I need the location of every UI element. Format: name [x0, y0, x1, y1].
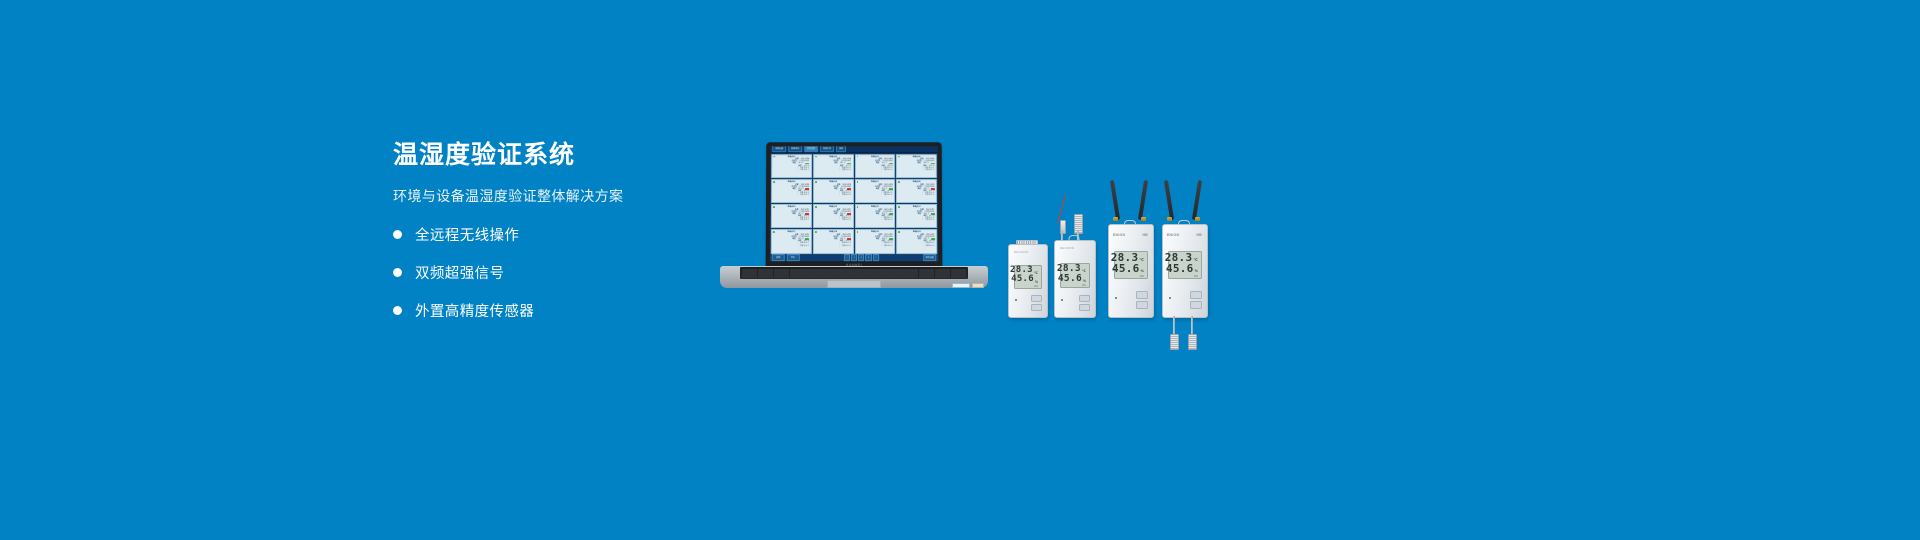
antenna-left-base [1113, 217, 1118, 221]
device-group: RECORD 28.3 ℃ 45.6 % RH [1000, 186, 1220, 316]
card-field-value: 下限 10.0 ℃ [842, 194, 851, 196]
lcd-humidity-value: 45.6 [1058, 274, 1082, 284]
lcd-display: 28.3 ℃ 45.6 % RH [1014, 265, 1042, 289]
device-button-up[interactable] [1190, 291, 1202, 299]
device-logger-wireless-2: EN/ON HB 28.3 ℃ 45.6 % RH [1162, 224, 1206, 316]
monitor-card[interactable]: 监测点08名称：测试 仓库B序列号：YJ-20210608温度：28.6 ℃湿度… [896, 179, 937, 203]
device-button-down[interactable] [1136, 301, 1148, 309]
lcd-footer-label: RH [1064, 284, 1086, 287]
status-led-icon [1015, 299, 1017, 301]
card-status-dot-icon [898, 206, 900, 208]
card-field-key: ： [923, 219, 925, 221]
card-field-key: ： [922, 169, 924, 171]
tab-system[interactable]: 系统 [836, 146, 846, 152]
more-settings-button[interactable]: 更多设置 [923, 255, 936, 262]
lcd-footer-label: RH [1172, 274, 1198, 278]
feature-item-3: 外置高精度传感器 [393, 300, 723, 321]
card-field-value: 下限 10.0 ℃ [883, 219, 893, 221]
card-field-key: 温度： [834, 163, 839, 165]
app-bottom-toolbar: 刷新 导出 ‹ 1 2 3 › 更多设置 [770, 255, 939, 262]
refresh-button[interactable]: 刷新 [772, 255, 785, 262]
keyboard-key[interactable] [774, 276, 789, 277]
monitor-card[interactable]: 监测点04名称：测试 仓库A序列号：YJ-20210604温度：28.8 ℃湿度… [896, 154, 937, 178]
card-field-row: ：下限 10.0 ℃ [899, 169, 935, 171]
device-body: EN/ON HB 28.3 ℃ 45.6 % RH [1108, 224, 1154, 318]
feature-item-1: 全远程无线操作 [393, 224, 723, 245]
lcd-humidity-unit: % [1035, 281, 1038, 284]
device-button-up[interactable] [1079, 295, 1090, 302]
page-2-button[interactable]: 2 [858, 255, 864, 262]
lcd-humidity-line: 45.6 % [1172, 263, 1198, 274]
card-status-dot-icon [773, 206, 775, 208]
card-field-value: 下限 10.0 ℃ [925, 219, 935, 221]
card-field-row: ：下限 10.0 ℃ [815, 245, 851, 247]
lcd-humidity-line: 45.6 % [1018, 275, 1038, 284]
device-brand: RECORD [1014, 250, 1028, 254]
probe-sensor-head [1074, 214, 1083, 234]
feature-label: 双频超强信号 [415, 262, 504, 283]
card-field-key: 温度： [792, 238, 797, 240]
card-field-key: ： [797, 245, 799, 247]
card-field-row: ：下限 10.0 ℃ [857, 169, 893, 171]
probe-sensor-head [1170, 334, 1179, 350]
keyboard-key[interactable] [951, 276, 966, 277]
antenna-left-icon [1164, 180, 1174, 220]
device-button-down[interactable] [1079, 304, 1090, 311]
lcd-display: 28.3 ℃ 45.6 % RH [1114, 251, 1148, 279]
card-field-key: ： [881, 219, 883, 221]
lcd-humidity-unit: % [1195, 270, 1198, 274]
card-field-key: 温度： [876, 188, 881, 190]
monitor-card[interactable]: 监测点09名称：测试 仓库C序列号：YJ-20210609温度：28.7 ℃湿度… [771, 204, 812, 228]
keyboard-row [742, 276, 966, 277]
card-field-key: 温度： [792, 163, 797, 165]
keyboard-key[interactable] [742, 276, 757, 277]
app-top-toolbar: 参数设置 数据查询 实时监控 报警记录 系统 [770, 146, 938, 153]
card-field-key: 温度： [918, 213, 923, 215]
card-field-row: ：下限 10.0 ℃ [815, 219, 851, 221]
monitor-card[interactable]: 监测点12名称：测试 仓库C序列号：YJ-20210612温度：28.5 ℃湿度… [896, 204, 937, 228]
bullet-dot-icon [393, 230, 402, 239]
laptop-product-image: 参数设置 数据查询 实时监控 报警记录 系统 监测点01名称：测试 仓库A序列号… [720, 142, 988, 300]
device-button-group[interactable] [1136, 291, 1148, 309]
card-field-key: ： [923, 245, 925, 247]
keyboard-key[interactable] [919, 276, 934, 277]
card-status-dot-icon [773, 181, 775, 183]
card-field-key: 温度： [834, 188, 839, 190]
card-field-row: ：下限 10.0 ℃ [815, 169, 851, 171]
card-field-value: 下限 10.0 ℃ [925, 169, 934, 171]
device-logger-compact: RECORD 28.3 ℃ 45.6 % RH [1008, 244, 1046, 316]
monitor-card[interactable]: 监测点06名称：测试 仓库B序列号：YJ-20210606温度：28.2 ℃湿度… [813, 179, 854, 203]
status-led-icon [1169, 297, 1171, 299]
lcd-humidity-value: 45.6 [1166, 263, 1194, 274]
export-button[interactable]: 导出 [786, 255, 799, 262]
device-body: RECORD 28.3 ℃ 45.6 % RH [1054, 240, 1096, 318]
antenna-right-base [1141, 217, 1146, 221]
device-logger-probe: RECORD 28.3 ℃ 45.6 % RH [1054, 240, 1094, 316]
card-field-row: ：下限 10.0 ℃ [899, 194, 935, 196]
card-field-key: ： [797, 194, 799, 196]
page-prev-button[interactable]: ‹ [844, 255, 850, 262]
card-field-key: ： [839, 169, 841, 171]
laptop-screen: 参数设置 数据查询 实时监控 报警记录 系统 监测点01名称：测试 仓库A序列号… [770, 146, 939, 261]
card-field-value: 下限 10.0 ℃ [883, 245, 893, 247]
card-status-dot-icon [898, 181, 900, 183]
device-button-up[interactable] [1031, 295, 1042, 302]
keyboard-keys[interactable] [742, 269, 966, 278]
lcd-display: 28.3 ℃ 45.6 % RH [1168, 251, 1202, 279]
card-field-value: 下限 10.0 ℃ [800, 169, 809, 171]
keyboard-key[interactable] [902, 276, 917, 277]
device-button-down[interactable] [1031, 304, 1042, 311]
card-field-key: ： [881, 194, 883, 196]
antenna-right-icon [1138, 180, 1148, 220]
card-field-value: 下限 10.0 ℃ [841, 245, 851, 247]
hero-banner: 温湿度验证系统 环境与设备温湿度验证整体解决方案 全远程无线操作 双频超强信号 … [0, 0, 1920, 540]
device-button-group[interactable] [1031, 295, 1042, 311]
card-field-key: ： [839, 245, 841, 247]
card-field-row: ：下限 10.0 ℃ [857, 245, 893, 247]
card-field-key: ： [922, 194, 924, 196]
pagination: ‹ 1 2 3 › [844, 255, 879, 262]
card-field-row: ：下限 10.0 ℃ [899, 245, 935, 247]
monitor-grid-container: 监测点01名称：测试 仓库A序列号：YJ-20210601温度：28.3 ℃湿度… [770, 153, 938, 255]
card-status-dot-icon [815, 181, 817, 183]
feature-label: 全远程无线操作 [415, 224, 519, 245]
page-1-button[interactable]: 1 [851, 255, 857, 262]
card-field-key: ： [797, 169, 799, 171]
status-led-icon [1115, 297, 1117, 299]
antenna-left-base [1167, 217, 1172, 221]
monitor-card[interactable]: 监测点15名称：测试 仓库D序列号：YJ-20210615温度：28.6 ℃湿度… [855, 229, 896, 253]
card-field-row: ：下限 10.0 ℃ [857, 194, 893, 196]
tab-data-query[interactable]: 数据查询 [788, 146, 802, 152]
keyboard-key[interactable] [758, 276, 773, 277]
antenna-right-base [1195, 217, 1200, 221]
lcd-humidity-line: 45.6 % [1064, 274, 1086, 284]
lcd-humidity-value: 45.6 [1011, 275, 1034, 284]
device-label-right: HB [1197, 233, 1203, 237]
bullet-dot-icon [393, 268, 402, 277]
secondary-sticker [972, 283, 984, 289]
card-field-key: ： [881, 169, 883, 171]
card-field-key: 温度： [917, 163, 922, 165]
monitor-card[interactable]: 监测点03名称：测试 仓库A序列号：YJ-20210603温度：28.1 ℃湿度… [854, 154, 895, 178]
monitor-card[interactable]: 监测点10名称：测试 仓库C序列号：YJ-20210610温度：28.3 ℃湿度… [813, 204, 854, 228]
card-field-key: 温度： [834, 238, 839, 240]
card-field-value: 下限 10.0 ℃ [841, 219, 851, 221]
page-title: 温湿度验证系统 [393, 140, 723, 170]
device-brand: RECORD [1060, 246, 1074, 250]
feature-item-2: 双频超强信号 [393, 262, 723, 283]
card-field-key: 温度： [918, 238, 923, 240]
tab-realtime-monitor[interactable]: 实时监控 [804, 146, 818, 152]
device-button-down[interactable] [1190, 301, 1202, 309]
card-field-row: ：下限 10.0 ℃ [774, 169, 810, 171]
monitor-card[interactable]: 监测点05名称：测试 仓库B序列号：YJ-20210605温度：29.0 ℃湿度… [771, 179, 812, 203]
monitor-card[interactable]: 监测点07名称：测试 仓库B序列号：YJ-20210607温度：28.4 ℃湿度… [854, 179, 895, 203]
card-field-row: ：下限 10.0 ℃ [815, 194, 851, 196]
keyboard-key[interactable] [935, 276, 950, 277]
page-3-button[interactable]: 3 [865, 255, 871, 262]
lcd-footer-label: RH [1018, 285, 1038, 288]
keyboard-key[interactable] [790, 276, 805, 277]
monitor-card[interactable]: 监测点14名称：测试 仓库D序列号：YJ-20210614温度：28.4 ℃湿度… [813, 229, 854, 253]
monitor-card[interactable]: 监测点11名称：测试 仓库C序列号：YJ-20210611温度：28.9 ℃湿度… [855, 204, 896, 228]
device-button-up[interactable] [1136, 291, 1148, 299]
status-led-icon [1061, 299, 1063, 301]
card-field-value: 下限 10.0 ℃ [925, 194, 935, 196]
card-field-key: ： [839, 194, 841, 196]
tab-alarm-records[interactable]: 报警记录 [820, 146, 834, 152]
lcd-humidity-value: 45.6 [1112, 263, 1140, 274]
card-status-dot-icon [815, 231, 817, 233]
card-field-value: 下限 10.0 ℃ [800, 219, 810, 221]
card-status-dot-icon [773, 231, 775, 233]
card-field-value: 下限 10.0 ℃ [883, 194, 892, 196]
device-button-group[interactable] [1079, 295, 1090, 311]
card-field-key: ： [839, 219, 841, 221]
card-field-key: 温度： [876, 238, 881, 240]
page-next-button[interactable]: › [873, 255, 879, 262]
keyboard-deck [740, 267, 968, 279]
card-field-value: 下限 10.0 ℃ [800, 194, 810, 196]
feature-label: 外置高精度传感器 [415, 300, 534, 321]
lcd-humidity-unit: % [1141, 270, 1144, 274]
monitor-card-grid: 监测点01名称：测试 仓库A序列号：YJ-20210601温度：28.3 ℃湿度… [771, 154, 937, 254]
laptop-base [720, 266, 988, 288]
monitor-card[interactable]: 监测点01名称：测试 仓库A序列号：YJ-20210601温度：28.3 ℃湿度… [771, 154, 812, 178]
keyboard-key[interactable] [838, 276, 853, 277]
device-body: EN/ON HB 28.3 ℃ 45.6 % RH [1162, 224, 1208, 318]
page-subtitle: 环境与设备温湿度验证整体解决方案 [393, 186, 723, 206]
keyboard-key[interactable] [854, 276, 869, 277]
card-field-row: ：下限 10.0 ℃ [899, 219, 935, 221]
monitor-card[interactable]: 监测点02名称：测试 仓库A序列号：YJ-20210602温度：28.5 ℃湿度… [813, 154, 854, 178]
device-label-right: HB [1143, 233, 1149, 237]
card-field-row: ：下限 10.0 ℃ [774, 194, 810, 196]
card-field-key: ： [797, 219, 799, 221]
touchpad[interactable] [827, 280, 881, 288]
card-field-row: ：下限 10.0 ℃ [773, 219, 809, 221]
feature-list: 全远程无线操作 双频超强信号 外置高精度传感器 [393, 224, 723, 321]
device-label-left: EN/ON [1167, 233, 1179, 237]
lcd-display: 28.3 ℃ 45.6 % RH [1060, 263, 1090, 288]
card-field-row: ：下限 10.0 ℃ [773, 245, 809, 247]
card-field-key: 温度： [834, 213, 839, 215]
lcd-humidity-line: 45.6 % [1118, 263, 1144, 274]
keyboard-key[interactable] [870, 276, 885, 277]
card-field-key: 温度： [876, 213, 881, 215]
card-field-key: 温度： [876, 163, 881, 165]
card-field-value: 下限 10.0 ℃ [842, 169, 851, 171]
card-field-value: 下限 10.0 ℃ [925, 245, 935, 247]
card-field-key: ： [881, 245, 883, 247]
device-label-left: EN/ON [1113, 233, 1125, 237]
monitor-card[interactable]: 监测点16名称：测试 仓库D序列号：YJ-20210616温度：28.2 ℃湿度… [896, 229, 937, 253]
keyboard-key[interactable] [822, 276, 837, 277]
antenna-left-icon [1110, 180, 1120, 220]
card-field-key: 温度： [792, 188, 797, 190]
laptop-lid: 参数设置 数据查询 实时监控 报警记录 系统 监测点01名称：测试 仓库A序列号… [766, 142, 943, 268]
spec-sticker [952, 283, 970, 289]
lcd-humidity-unit: % [1083, 280, 1086, 283]
antenna-right-icon [1192, 180, 1202, 220]
card-field-key: 温度： [918, 188, 923, 190]
card-field-value: 下限 10.0 ℃ [883, 169, 892, 171]
lcd-footer-label: RH [1118, 274, 1144, 278]
probe-sensor-head [1188, 334, 1197, 350]
card-field-key: 温度： [792, 213, 797, 215]
card-field-value: 下限 10.0 ℃ [800, 245, 810, 247]
keyboard-key[interactable] [806, 276, 821, 277]
device-logger-wireless-1: EN/ON HB 28.3 ℃ 45.6 % RH [1108, 224, 1152, 316]
device-body: RECORD 28.3 ℃ 45.6 % RH [1008, 244, 1048, 318]
hero-copy-block: 温湿度验证系统 环境与设备温湿度验证整体解决方案 全远程无线操作 双频超强信号 … [393, 140, 723, 338]
device-button-group[interactable] [1190, 291, 1202, 309]
bullet-dot-icon [393, 306, 402, 315]
card-field-row: ：下限 10.0 ℃ [857, 219, 893, 221]
card-status-dot-icon [815, 206, 817, 208]
tab-parameter-settings[interactable]: 参数设置 [772, 146, 786, 152]
monitor-card[interactable]: 监测点13名称：测试 仓库D序列号：YJ-20210613温度：28.0 ℃湿度… [771, 229, 812, 253]
keyboard-key[interactable] [886, 276, 901, 277]
